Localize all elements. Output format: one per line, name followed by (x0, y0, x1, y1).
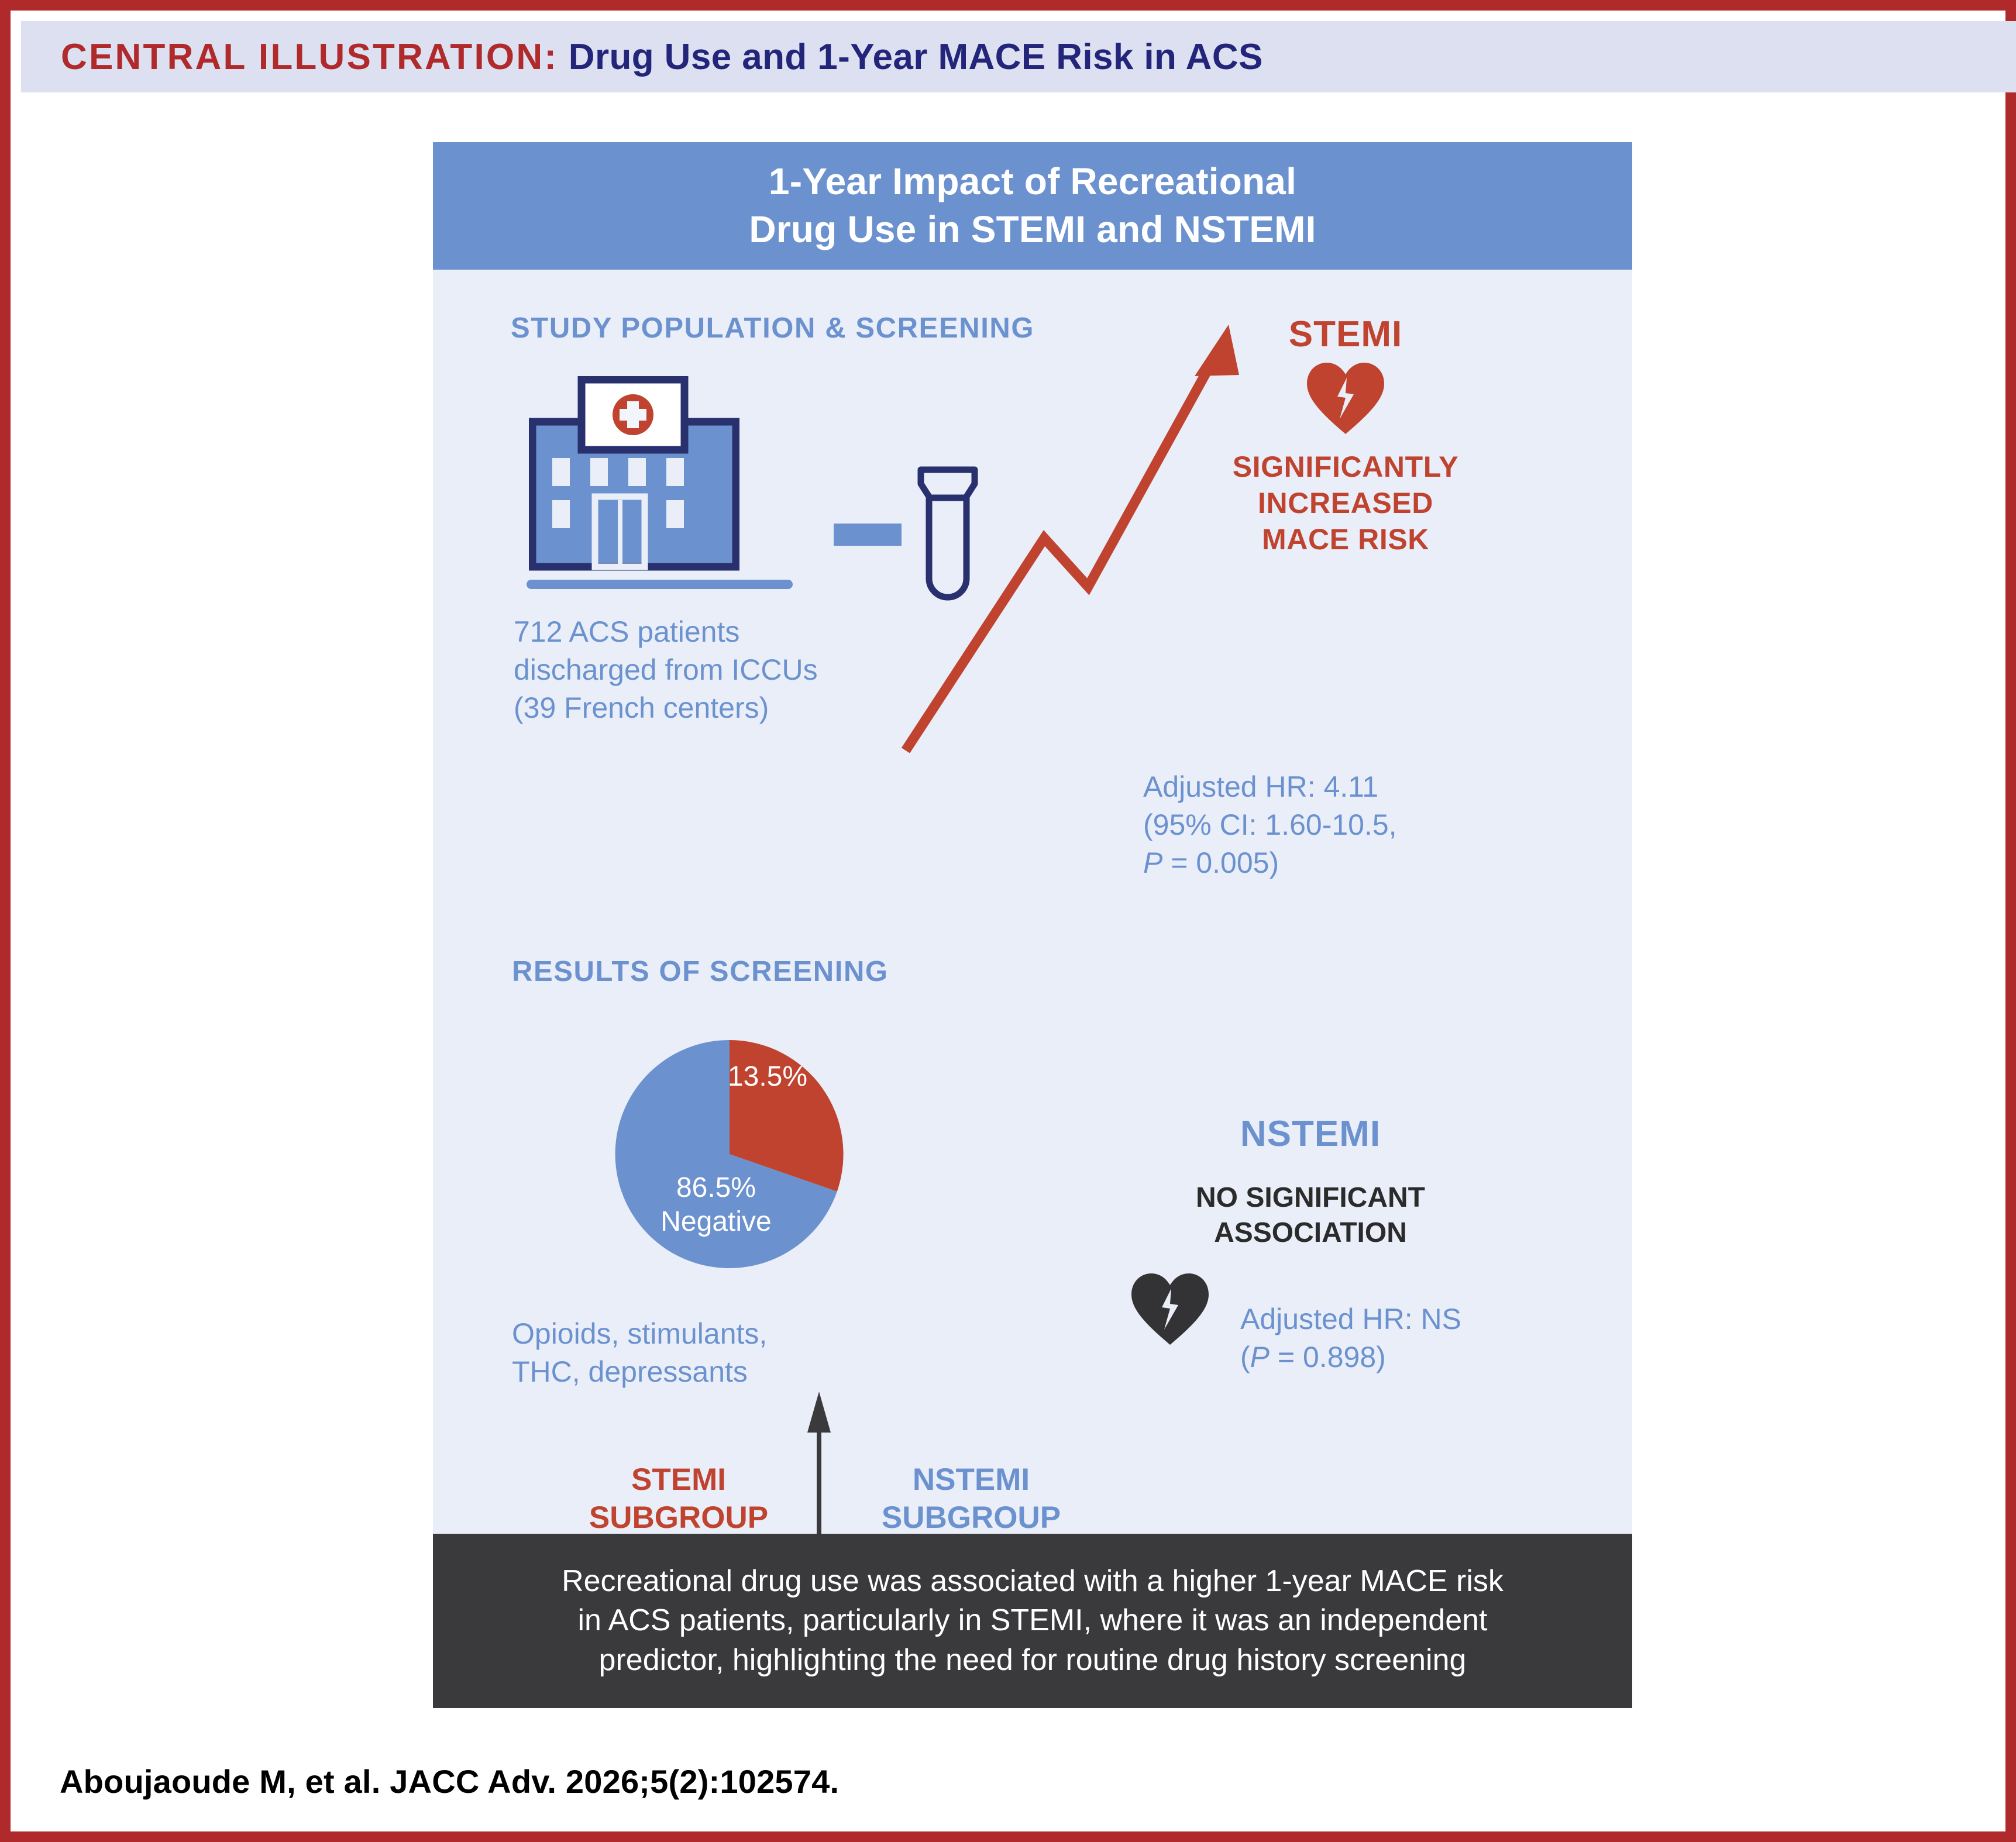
panel-title-bar: 1-Year Impact of Recreational Drug Use i… (433, 142, 1632, 270)
screening-pie-chart: 13.5% 86.5% Negative (586, 1011, 873, 1297)
panel-title-line-2: Drug Use in STEMI and NSTEMI (749, 206, 1316, 254)
nstemi-p-symbol: P (1250, 1341, 1270, 1373)
subgroup-label-nstemi: NSTEMI SUBGROUP (854, 1461, 1088, 1537)
header-band: CENTRAL ILLUSTRATION: Drug Use and 1-Yea… (21, 21, 2016, 92)
pie-label-positive: 13.5% (728, 1061, 807, 1092)
nstemi-p-value: = 0.898) (1270, 1341, 1386, 1373)
panel-title-line-1: 1-Year Impact of Recreational (769, 158, 1296, 206)
citation: Aboujaoude M, et al. JACC Adv. 2026;5(2)… (60, 1762, 839, 1800)
nstemi-statistics: Adjusted HR: NS (P = 0.898) (1240, 1300, 1568, 1376)
nstemi-association-statement: NO SIGNIFICANT ASSOCIATION (1100, 1180, 1521, 1251)
subgroup-label-stemi: STEMI SUBGROUP (579, 1461, 778, 1537)
nstemi-paren: ( (1240, 1341, 1250, 1373)
page-title: Drug Use and 1-Year MACE Risk in ACS (558, 37, 1263, 77)
header-text: CENTRAL ILLUSTRATION: Drug Use and 1-Yea… (61, 36, 1263, 78)
broken-heart-icon (1129, 1271, 1211, 1346)
connector-dash (834, 524, 902, 546)
broken-heart-icon (1305, 360, 1387, 435)
stemi-result-block: STEMI SIGNIFICANTLY INCREASED MACE RISK (1135, 315, 1556, 557)
ground-line (527, 580, 793, 589)
nstemi-hr-line: Adjusted HR: NS (1240, 1300, 1568, 1338)
nstemi-title: NSTEMI (1129, 1113, 1492, 1155)
screening-results-heading: RESULTS OF SCREENING (512, 955, 889, 988)
stemi-hr-line: Adjusted HR: 4.11 (1143, 768, 1588, 806)
hospital-icon (529, 376, 739, 578)
stemi-p-line: P = 0.005) (1143, 844, 1588, 882)
pie-label-negative-word: Negative (660, 1206, 771, 1237)
drug-class-list: Opioids, stimulants, THC, depressants (512, 1315, 767, 1391)
stemi-title: STEMI (1135, 315, 1556, 354)
stemi-ci-line: (95% CI: 1.60-10.5, (1143, 806, 1588, 844)
central-illustration-label: CENTRAL ILLUSTRATION: (61, 37, 558, 77)
caption-text: Recreational drug use was associated wit… (542, 1562, 1523, 1681)
stemi-p-symbol: P (1143, 846, 1162, 879)
stemi-risk-statement: SIGNIFICANTLY INCREASED MACE RISK (1135, 449, 1556, 557)
pie-label-negative-value: 86.5% (676, 1172, 756, 1203)
stemi-statistics: Adjusted HR: 4.11 (95% CI: 1.60-10.5, P … (1143, 768, 1588, 882)
figure-frame: CENTRAL ILLUSTRATION: Drug Use and 1-Yea… (0, 0, 2016, 1842)
stemi-p-value: = 0.005) (1162, 846, 1279, 879)
study-population-description: 712 ACS patients discharged from ICCUs (… (514, 613, 818, 727)
caption-bar: Recreational drug use was associated wit… (433, 1534, 1632, 1708)
main-illustration-panel: 1-Year Impact of Recreational Drug Use i… (433, 142, 1632, 1534)
nstemi-p-line: (P = 0.898) (1240, 1338, 1568, 1376)
